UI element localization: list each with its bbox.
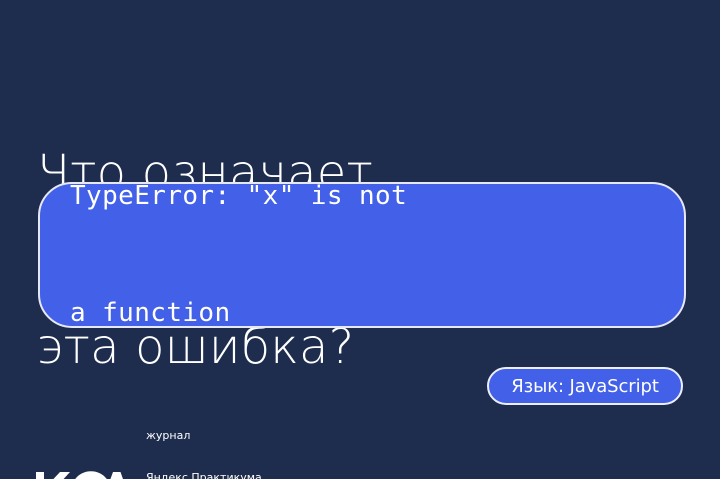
error-message-line-2: a function	[70, 294, 407, 333]
brand-tagline-line-2: Яндекс Практикума	[146, 471, 262, 479]
error-message-text: TypeError: "x" is not a function	[40, 99, 407, 411]
brand-tagline-line-1: журнал	[146, 429, 262, 443]
kod-wordmark-logo	[36, 470, 136, 479]
error-message-card: TypeError: "x" is not a function	[38, 182, 686, 328]
brand-tagline: журнал Яндекс Практикума	[146, 401, 262, 479]
language-badge-label: Язык: JavaScript	[511, 376, 659, 397]
language-badge: Язык: JavaScript	[487, 367, 683, 405]
error-message-line-1: TypeError: "x" is not	[70, 177, 407, 216]
brand-logo-lockup: журнал Яндекс Практикума	[36, 401, 262, 479]
poster-canvas: Что означает эта ошибка? TypeError: "x" …	[0, 0, 720, 479]
